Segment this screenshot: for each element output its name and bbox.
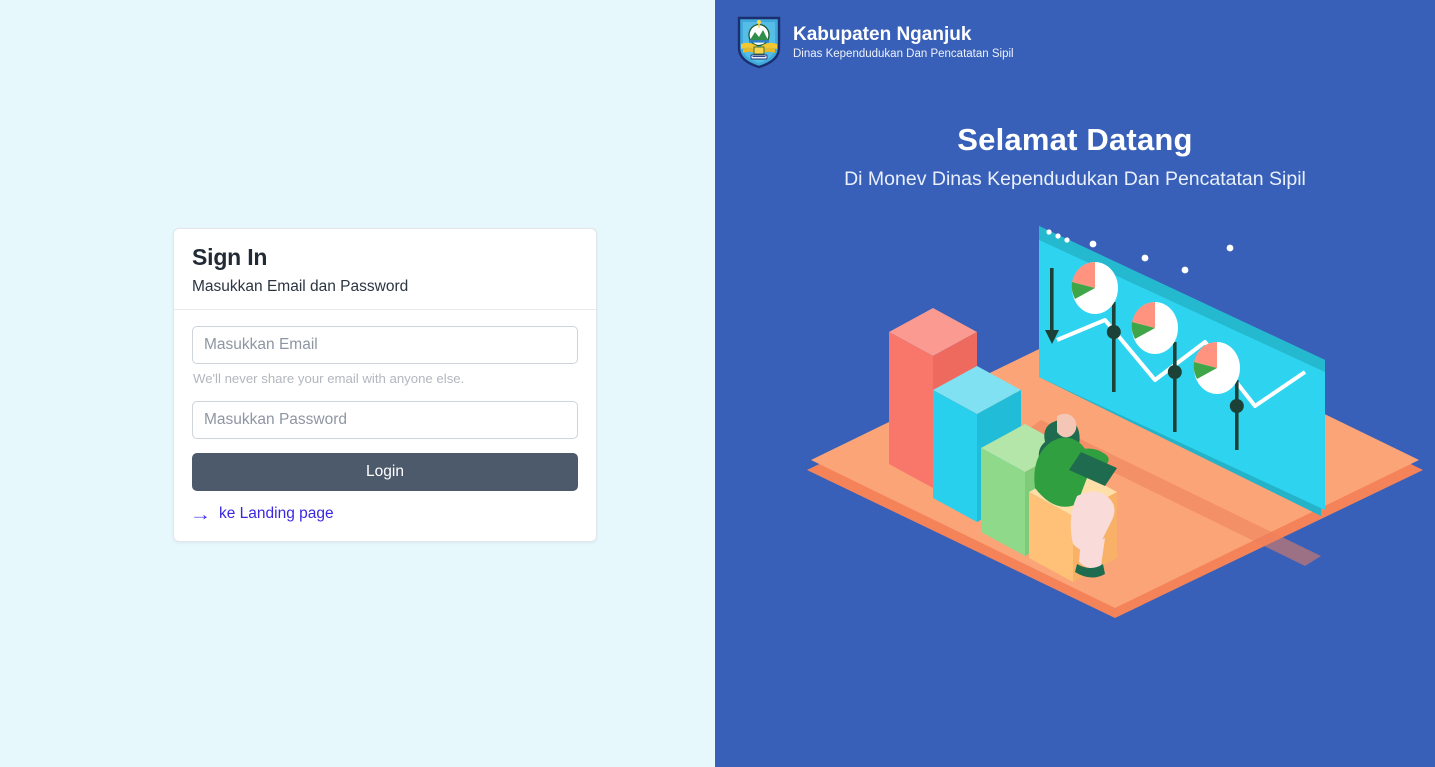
arrow-right-icon: → xyxy=(190,506,211,523)
signin-card-header: Sign In Masukkan Email dan Password xyxy=(174,229,596,310)
page-title: Sign In xyxy=(192,243,578,271)
spacer xyxy=(192,439,578,453)
branding-panel: Kabupaten Nganjuk Dinas Kependudukan Dan… xyxy=(715,0,1435,767)
login-button[interactable]: Login xyxy=(192,453,578,491)
signin-card-body: We'll never share your email with anyone… xyxy=(174,310,596,541)
analytics-illustration xyxy=(805,220,1425,620)
brand-subtitle: Dinas Kependudukan Dan Pencatatan Sipil xyxy=(793,47,1014,62)
pie-chart-1 xyxy=(1072,262,1118,314)
email-help-text: We'll never share your email with anyone… xyxy=(193,370,578,387)
coat-of-arms-icon xyxy=(737,15,781,69)
pie-chart-2 xyxy=(1132,302,1178,354)
pie-chart-3 xyxy=(1194,342,1240,394)
landing-page-link[interactable]: → ke Landing page xyxy=(192,505,578,523)
email-input[interactable] xyxy=(192,326,578,364)
password-input[interactable] xyxy=(192,401,578,439)
signin-subtitle: Masukkan Email dan Password xyxy=(192,277,578,297)
signin-card: Sign In Masukkan Email dan Password We'l… xyxy=(173,228,597,542)
welcome-subtitle: Di Monev Dinas Kependudukan Dan Pencatat… xyxy=(715,168,1435,191)
landing-page-link-label: ke Landing page xyxy=(219,505,334,523)
welcome-title: Selamat Datang xyxy=(715,122,1435,158)
brand-title: Kabupaten Nganjuk xyxy=(793,23,1014,46)
login-page: Sign In Masukkan Email dan Password We'l… xyxy=(0,0,1435,767)
brand-text: Kabupaten Nganjuk Dinas Kependudukan Dan… xyxy=(793,23,1014,62)
login-panel: Sign In Masukkan Email dan Password We'l… xyxy=(0,0,715,767)
brand-header: Kabupaten Nganjuk Dinas Kependudukan Dan… xyxy=(737,15,1014,69)
